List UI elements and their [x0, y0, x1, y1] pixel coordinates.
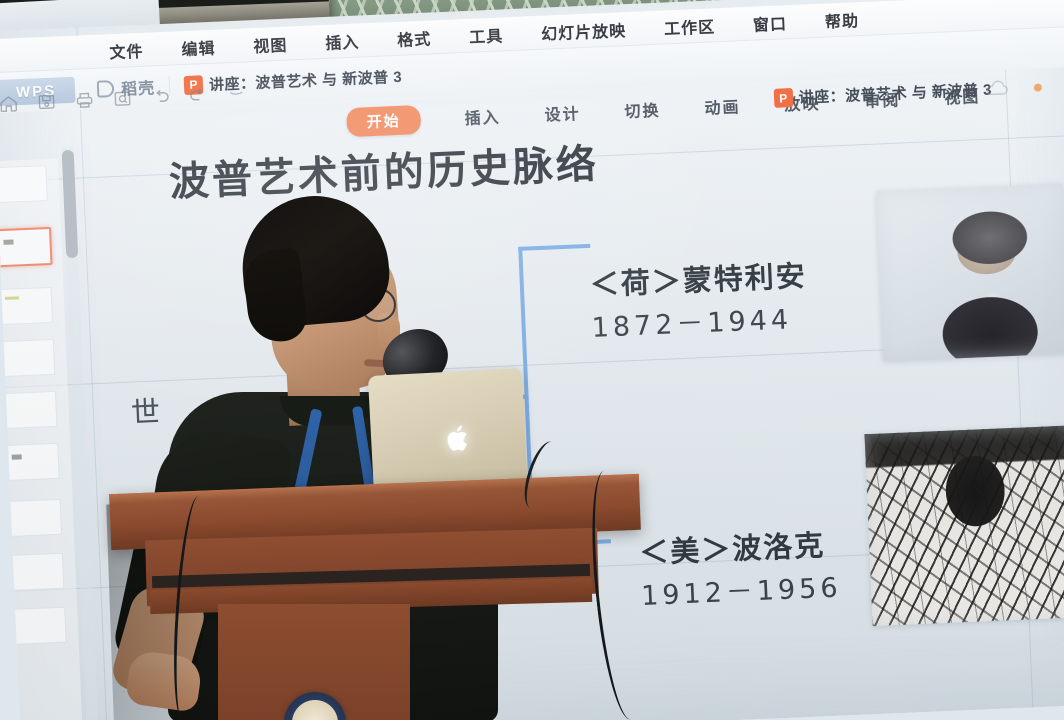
node-name: ＜美＞波洛克: [638, 521, 840, 572]
menu-item-file[interactable]: 文件: [109, 37, 144, 62]
presentation-photo-scene: 文件 编辑 视图 插入 格式 工具 幻灯片放映 工作区 窗口 帮助 WPS 稻壳: [0, 0, 1064, 720]
slide-thumbnail-9[interactable]: [13, 607, 66, 645]
slide-thumbnail-4[interactable]: [2, 339, 55, 377]
undo-icon[interactable]: [149, 87, 172, 108]
print-icon[interactable]: [73, 90, 96, 111]
home-icon[interactable]: [0, 93, 20, 114]
slide-node-pollock: ＜美＞波洛克 1912－1956: [638, 521, 842, 612]
apple-logo-icon: [445, 423, 472, 453]
menu-item-workspace[interactable]: 工作区: [664, 13, 716, 39]
node-dates: 1872－1944: [591, 297, 809, 345]
menu-item-window[interactable]: 窗口: [752, 10, 787, 35]
slide-thumbnail-8[interactable]: [11, 553, 64, 591]
slide-thumbnail-1[interactable]: [0, 165, 48, 203]
menu-item-tools[interactable]: 工具: [469, 22, 504, 47]
thumb-content-mark: [12, 454, 22, 459]
menu-item-help[interactable]: 帮助: [824, 7, 859, 32]
slide-thumbnail-2[interactable]: [0, 227, 53, 267]
node-dates: 1912－1956: [640, 565, 842, 613]
menu-item-format[interactable]: 格式: [397, 25, 432, 50]
node-name: ＜荷＞蒙特利安: [589, 253, 808, 304]
slide-thumbnail-3[interactable]: [0, 287, 53, 325]
mondrian-portrait-photo: [876, 184, 1064, 362]
menu-item-slideshow[interactable]: 幻灯片放映: [541, 17, 627, 45]
print-preview-icon[interactable]: [111, 88, 134, 109]
menu-item-insert[interactable]: 插入: [325, 28, 360, 53]
photo-edge: [876, 184, 1064, 362]
redo-icon[interactable]: [187, 85, 210, 106]
slide-thumbnail-6[interactable]: [6, 443, 59, 481]
menu-item-view[interactable]: 视图: [253, 31, 288, 56]
cloud-icon[interactable]: [984, 80, 1011, 97]
more-icon[interactable]: [225, 83, 248, 104]
slide-thumbnail-7[interactable]: [9, 499, 62, 537]
slide-thumbnail-5[interactable]: [4, 391, 57, 429]
pollock-painting-photo: [865, 425, 1064, 626]
thumb-content-mark: [3, 240, 13, 245]
slide-node-mondrian: ＜荷＞蒙特利安 1872－1944: [589, 253, 809, 345]
save-icon[interactable]: [35, 92, 58, 113]
presenter-hair-side: [241, 247, 310, 345]
photo-edge: [865, 425, 1064, 626]
menu-item-edit[interactable]: 编辑: [181, 34, 216, 59]
thumb-content-mark: [5, 296, 19, 300]
